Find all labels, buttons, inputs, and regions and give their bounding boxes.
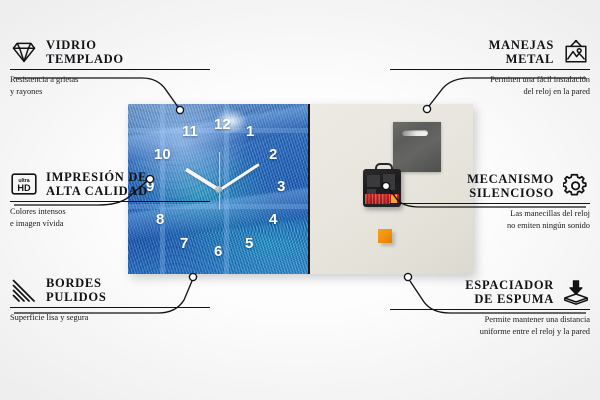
clock-numeral: 6	[214, 244, 222, 259]
movement-detail	[367, 175, 380, 187]
feature-divider	[390, 309, 590, 310]
feature-title: IMPRESIÓN DE ALTA CALIDAD	[46, 170, 148, 198]
clock-numeral: 5	[245, 236, 253, 251]
feature-title: BORDES PULIDOS	[46, 276, 106, 304]
feature-description: Colores intensos e imagen vívida	[10, 206, 210, 229]
metal-hanger-plate	[393, 122, 441, 172]
feature-callout-vidrio-templado[interactable]: VIDRIO TEMPLADO Resistencia a grietas y …	[10, 38, 210, 97]
picture-hanger-icon	[562, 38, 590, 66]
clock-numeral: 3	[277, 179, 285, 194]
feature-callout-espaciador-espuma[interactable]: ESPACIADOR DE ESPUMA Permite mantener un…	[390, 278, 590, 337]
feature-description: Superficie lisa y segura	[10, 312, 210, 324]
feature-description: Permite mantener una distancia uniforme …	[390, 314, 590, 337]
clock-numeral: 12	[214, 117, 231, 132]
hanger-slot	[402, 130, 428, 136]
feature-title: VIDRIO TEMPLADO	[46, 38, 124, 66]
feature-divider	[390, 203, 590, 204]
feature-callout-bordes-pulidos[interactable]: BORDES PULIDOS Superficie lisa y segura	[10, 276, 210, 324]
polished-edges-icon	[10, 276, 38, 304]
clock-numeral: 7	[180, 236, 188, 251]
clock-numeral: 4	[269, 212, 277, 227]
feature-title: ESPACIADOR DE ESPUMA	[465, 278, 554, 306]
feature-callout-impresion-alta-calidad[interactable]: ultra HD IMPRESIÓN DE ALTA CALIDAD Color…	[10, 170, 210, 229]
clock-numeral: 10	[154, 147, 171, 162]
svg-text:HD: HD	[17, 183, 31, 193]
clock-numeral: 2	[269, 147, 277, 162]
feature-divider	[390, 69, 590, 70]
infographic-canvas: 12 1 2 3 4 5 6 7 8 9 10 11	[0, 0, 600, 400]
feature-description: Resistencia a grietas y rayones	[10, 74, 210, 97]
feature-title: MECANISMO SILENCIOSO	[467, 172, 554, 200]
diamond-icon	[10, 38, 38, 66]
feature-description: Las manecillas del reloj no emiten ningú…	[390, 208, 590, 231]
clock-numeral: 1	[246, 124, 254, 139]
ultra-hd-icon: ultra HD	[10, 170, 38, 198]
feature-divider	[10, 307, 210, 308]
feature-header: ESPACIADOR DE ESPUMA	[390, 278, 590, 306]
feature-header: BORDES PULIDOS	[10, 276, 210, 304]
feature-header: VIDRIO TEMPLADO	[10, 38, 210, 66]
clock-second-hand	[219, 152, 220, 210]
feature-divider	[10, 69, 210, 70]
feature-header: MANEJAS METAL	[390, 38, 590, 66]
feature-description: Permiten una fácil instalación del reloj…	[390, 74, 590, 97]
feature-divider	[10, 201, 210, 202]
clock-numeral: 11	[182, 124, 198, 139]
feature-callout-manejas-metal[interactable]: MANEJAS METAL Permiten una fácil instala…	[390, 38, 590, 97]
clock-center-cap	[215, 186, 222, 193]
feature-header: ultra HD IMPRESIÓN DE ALTA CALIDAD	[10, 170, 210, 198]
feature-callout-mecanismo-silencioso[interactable]: MECANISMO SILENCIOSO Las manecillas del …	[390, 172, 590, 231]
gear-icon	[562, 172, 590, 200]
feature-title: MANEJAS METAL	[489, 38, 554, 66]
feature-header: MECANISMO SILENCIOSO	[390, 172, 590, 200]
foam-spacer-icon	[562, 278, 590, 306]
